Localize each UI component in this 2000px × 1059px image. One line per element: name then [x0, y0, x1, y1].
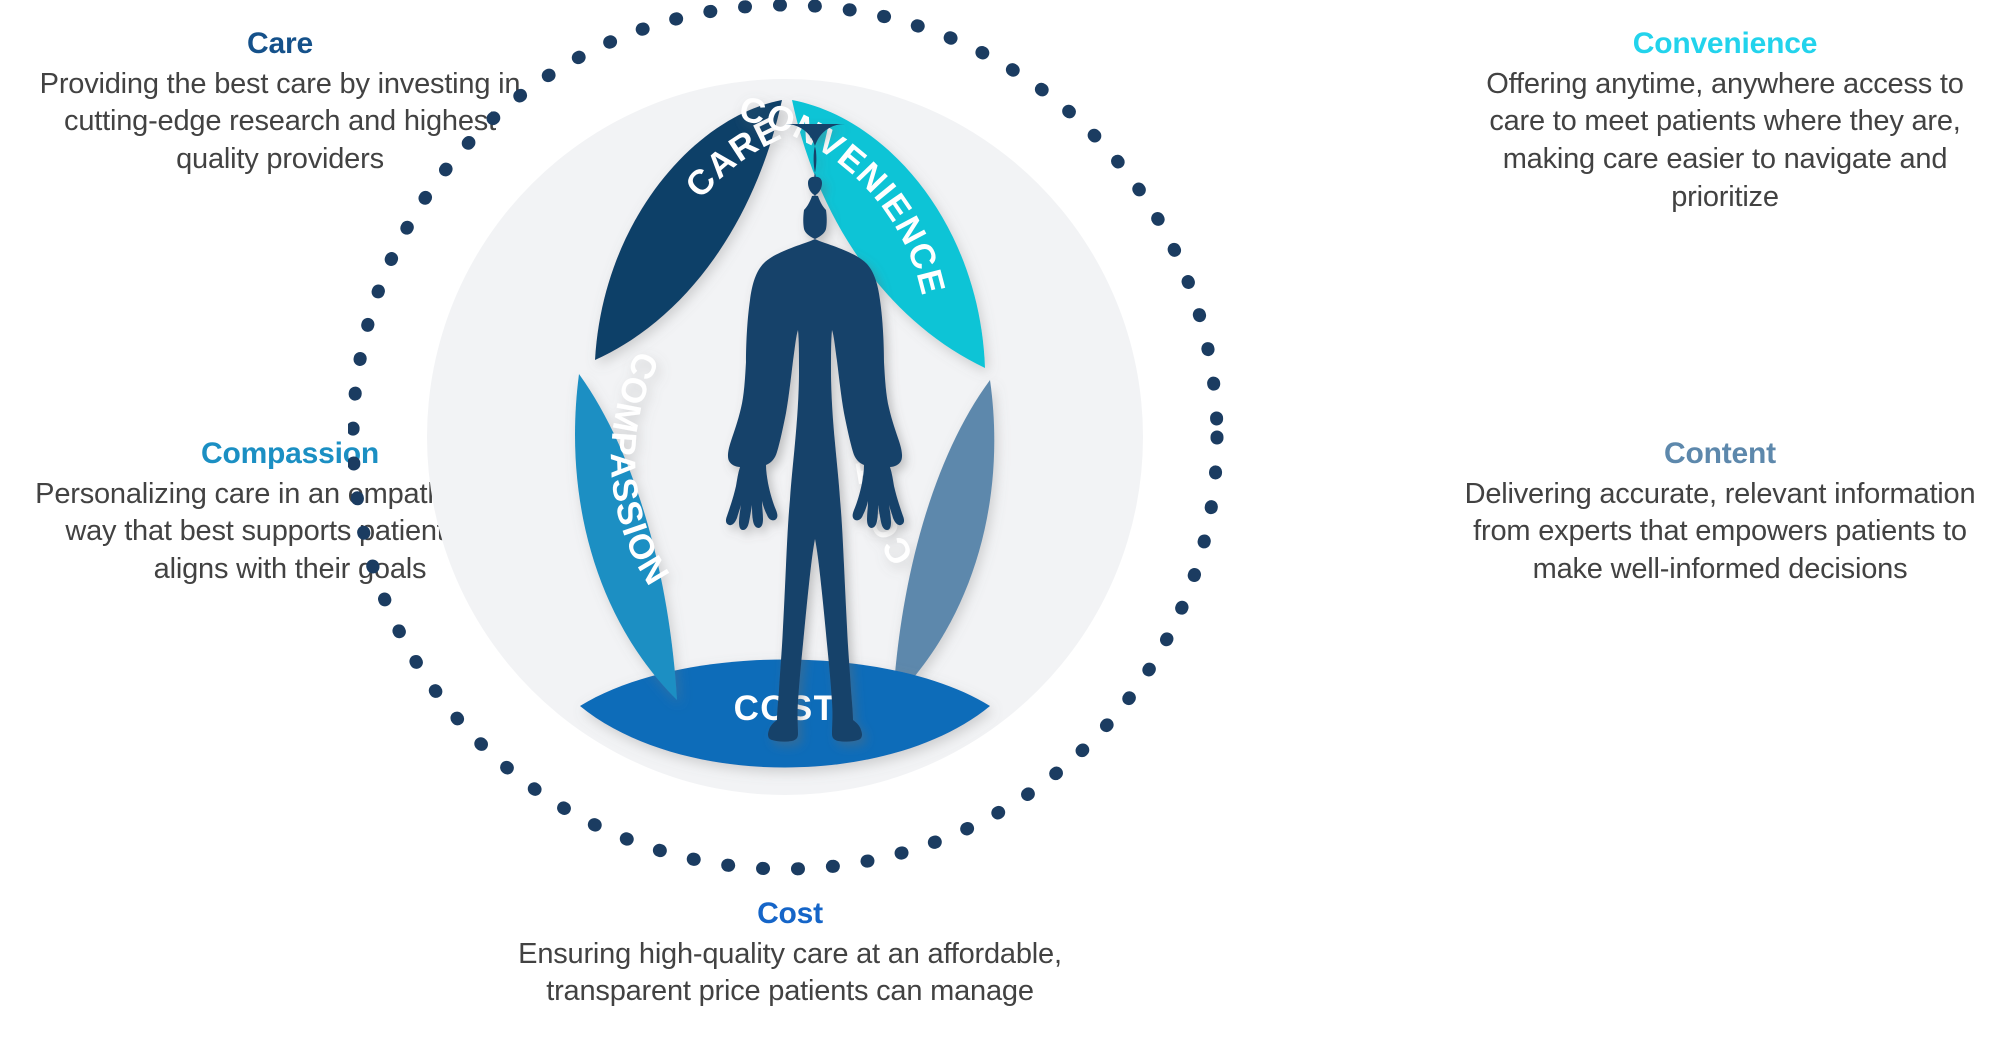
- callout-content-title: Content: [1450, 436, 1990, 473]
- callout-cost-body: Ensuring high-quality care at an afforda…: [490, 936, 1090, 1011]
- callout-convenience-title: Convenience: [1455, 26, 1995, 63]
- callout-cost-title: Cost: [490, 896, 1090, 933]
- callout-cost: Cost Ensuring high-quality care at an af…: [490, 896, 1090, 1011]
- callout-convenience: Convenience Offering anytime, anywhere a…: [1455, 26, 1995, 216]
- callout-convenience-body: Offering anytime, anywhere access to car…: [1455, 66, 1995, 217]
- callout-content-body: Delivering accurate, relevant informatio…: [1450, 476, 1990, 589]
- five-c-wheel: CARE CONVENIENCE CONTENT COST: [348, 0, 1228, 888]
- diagram-canvas: Care Providing the best care by investin…: [0, 0, 2000, 1059]
- callout-content: Content Delivering accurate, relevant in…: [1450, 436, 1990, 589]
